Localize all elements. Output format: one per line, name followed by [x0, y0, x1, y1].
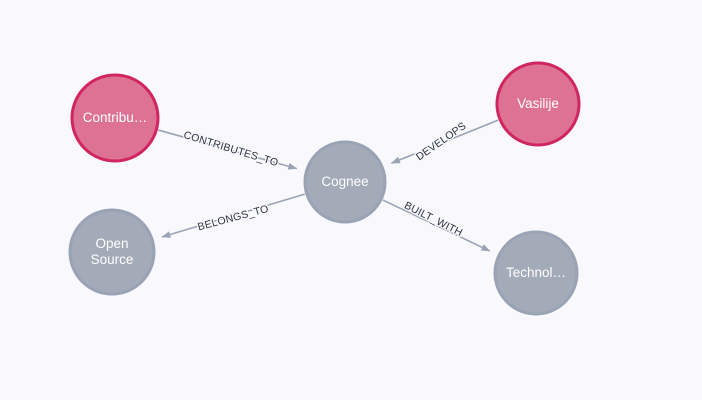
node-cognee[interactable]: Cognee: [305, 142, 385, 222]
node-contributor[interactable]: Contribu…: [72, 75, 158, 161]
edge-label-belongs-to: BELONGS_TO: [196, 203, 270, 233]
node-label-technology: Technol…: [506, 265, 566, 280]
edge-label-contributes-to: CONTRIBUTES_TO: [182, 129, 280, 169]
node-label-contributor: Contribu…: [83, 110, 148, 125]
node-label-open-source: OpenSource: [91, 236, 134, 267]
node-vasilije[interactable]: Vasilije: [497, 63, 579, 145]
graph-canvas[interactable]: CONTRIBUTES_TODEVELOPSBELONGS_TOBUILT_WI…: [0, 0, 702, 400]
node-label-vasilije: Vasilije: [517, 96, 559, 111]
node-open-source[interactable]: OpenSource: [70, 210, 154, 294]
edge-label-built-with: BUILT_WITH: [402, 200, 464, 240]
node-label-cognee: Cognee: [321, 174, 368, 189]
nodes-layer: Contribu…VasilijeCogneeOpenSourceTechnol…: [70, 63, 579, 314]
graph-viewport[interactable]: CONTRIBUTES_TODEVELOPSBELONGS_TOBUILT_WI…: [0, 0, 702, 400]
edge-label-develops: DEVELOPS: [414, 120, 469, 163]
node-technology[interactable]: Technol…: [495, 232, 577, 314]
